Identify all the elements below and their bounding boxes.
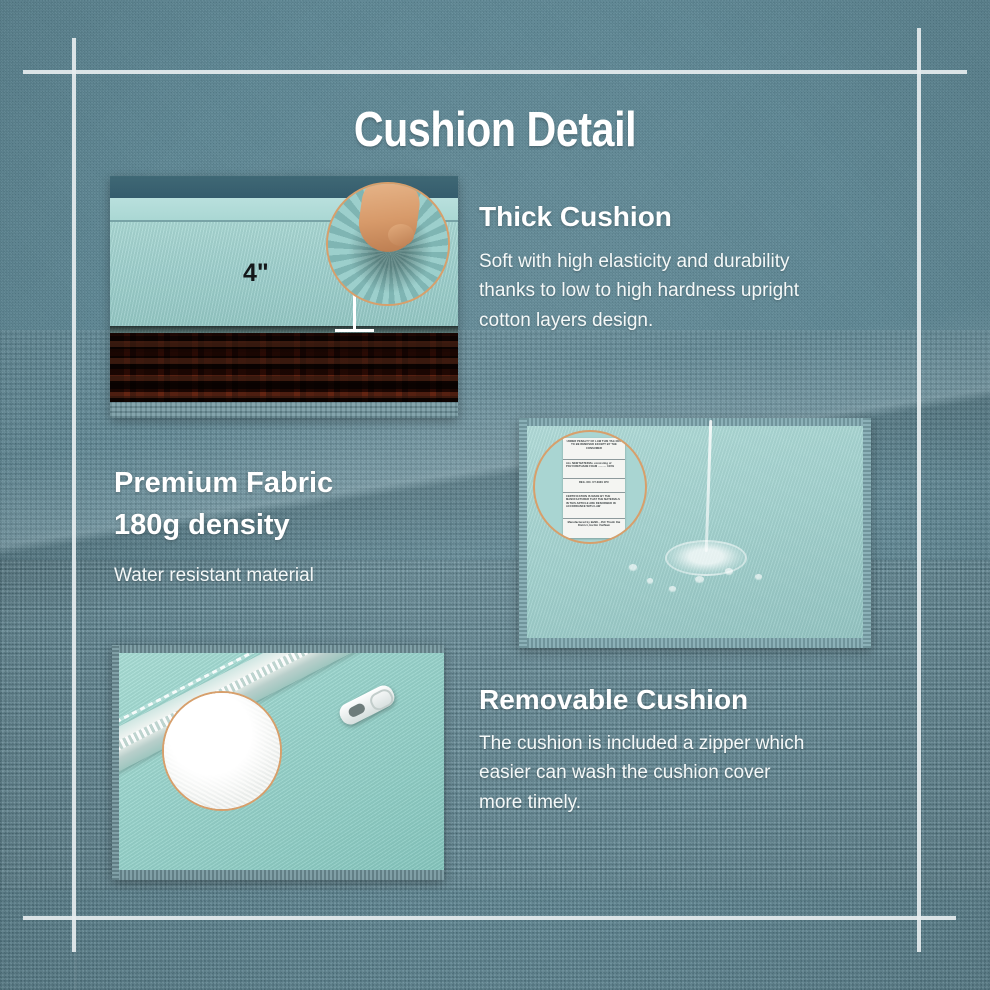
water-splash xyxy=(665,540,747,576)
infographic-canvas: Cushion Detail 4" xyxy=(0,0,990,990)
law-tag-line: UNDER PENALTY OF LAW THIS TAG NOT TO BE … xyxy=(566,440,622,450)
water-bead xyxy=(669,586,676,591)
frame-line-bottom xyxy=(23,916,956,920)
law-tag-line: ALL NEW MATERIAL consisting of POLYURETH… xyxy=(566,462,622,469)
law-tag: UNDER PENALTY OF LAW THIS TAG NOT TO BE … xyxy=(563,438,625,538)
water-bead xyxy=(755,574,762,579)
photo2-edge-right xyxy=(863,418,871,648)
zipper-photo xyxy=(112,645,444,880)
law-tag-inset: UNDER PENALTY OF LAW THIS TAG NOT TO BE … xyxy=(533,430,647,544)
feature-block-removable-cushion: Removable Cushion The cushion is include… xyxy=(479,683,809,817)
hand-squeezing-cushion-inset xyxy=(326,182,450,306)
cotton-batting-inset xyxy=(162,691,282,811)
photo2-edge-top xyxy=(519,418,871,426)
dimension-cap-bottom xyxy=(335,329,374,332)
cushion-thickness-photo: 4" xyxy=(110,176,458,418)
feature-heading-line2: 180g density xyxy=(114,504,454,546)
photo3-edge-left xyxy=(112,645,119,880)
zipper-pull-hole xyxy=(347,702,367,719)
frame-line-right xyxy=(917,28,921,952)
hand-knuckle xyxy=(388,224,414,246)
photo3-edge-top xyxy=(112,645,444,653)
dimension-label: 4" xyxy=(243,259,269,288)
water-bead xyxy=(695,576,704,582)
photo1-wicker-weave xyxy=(110,333,458,403)
photo1-bottom-fabric xyxy=(110,402,458,418)
page-title: Cushion Detail xyxy=(79,102,911,158)
water-bead xyxy=(725,568,733,574)
frame-line-top xyxy=(23,70,967,74)
water-bead xyxy=(629,564,637,570)
feature-heading-line1: Premium Fabric xyxy=(114,462,454,504)
law-tag-line: Manufactured by BeNK., JSC Thanh Oai Dis… xyxy=(566,521,622,528)
cotton-batting-texture xyxy=(164,693,280,809)
photo2-edge-bottom xyxy=(519,638,871,648)
feature-body: Water resistant material xyxy=(114,562,454,591)
feature-block-premium-fabric: Premium Fabric 180g density Water resist… xyxy=(114,462,454,591)
water-resistant-photo: UNDER PENALTY OF LAW THIS TAG NOT TO BE … xyxy=(519,418,871,648)
frame-line-left xyxy=(72,38,76,952)
feature-body: Soft with high elasticity and durability… xyxy=(479,247,824,335)
photo3-edge-bottom xyxy=(112,870,444,880)
water-bead xyxy=(647,578,653,583)
feature-block-thick-cushion: Thick Cushion Soft with high elasticity … xyxy=(479,200,824,335)
feature-body: The cushion is included a zipper which e… xyxy=(479,729,809,817)
law-tag-line: REG. NO. UT-0929 1PC xyxy=(566,481,622,484)
feature-heading: Removable Cushion xyxy=(479,683,809,716)
law-tag-line: CERTIFICATION IS MADE BY THE MANUFACTURE… xyxy=(566,495,622,509)
photo2-edge-left xyxy=(519,418,527,648)
feature-heading: Thick Cushion xyxy=(479,200,824,233)
